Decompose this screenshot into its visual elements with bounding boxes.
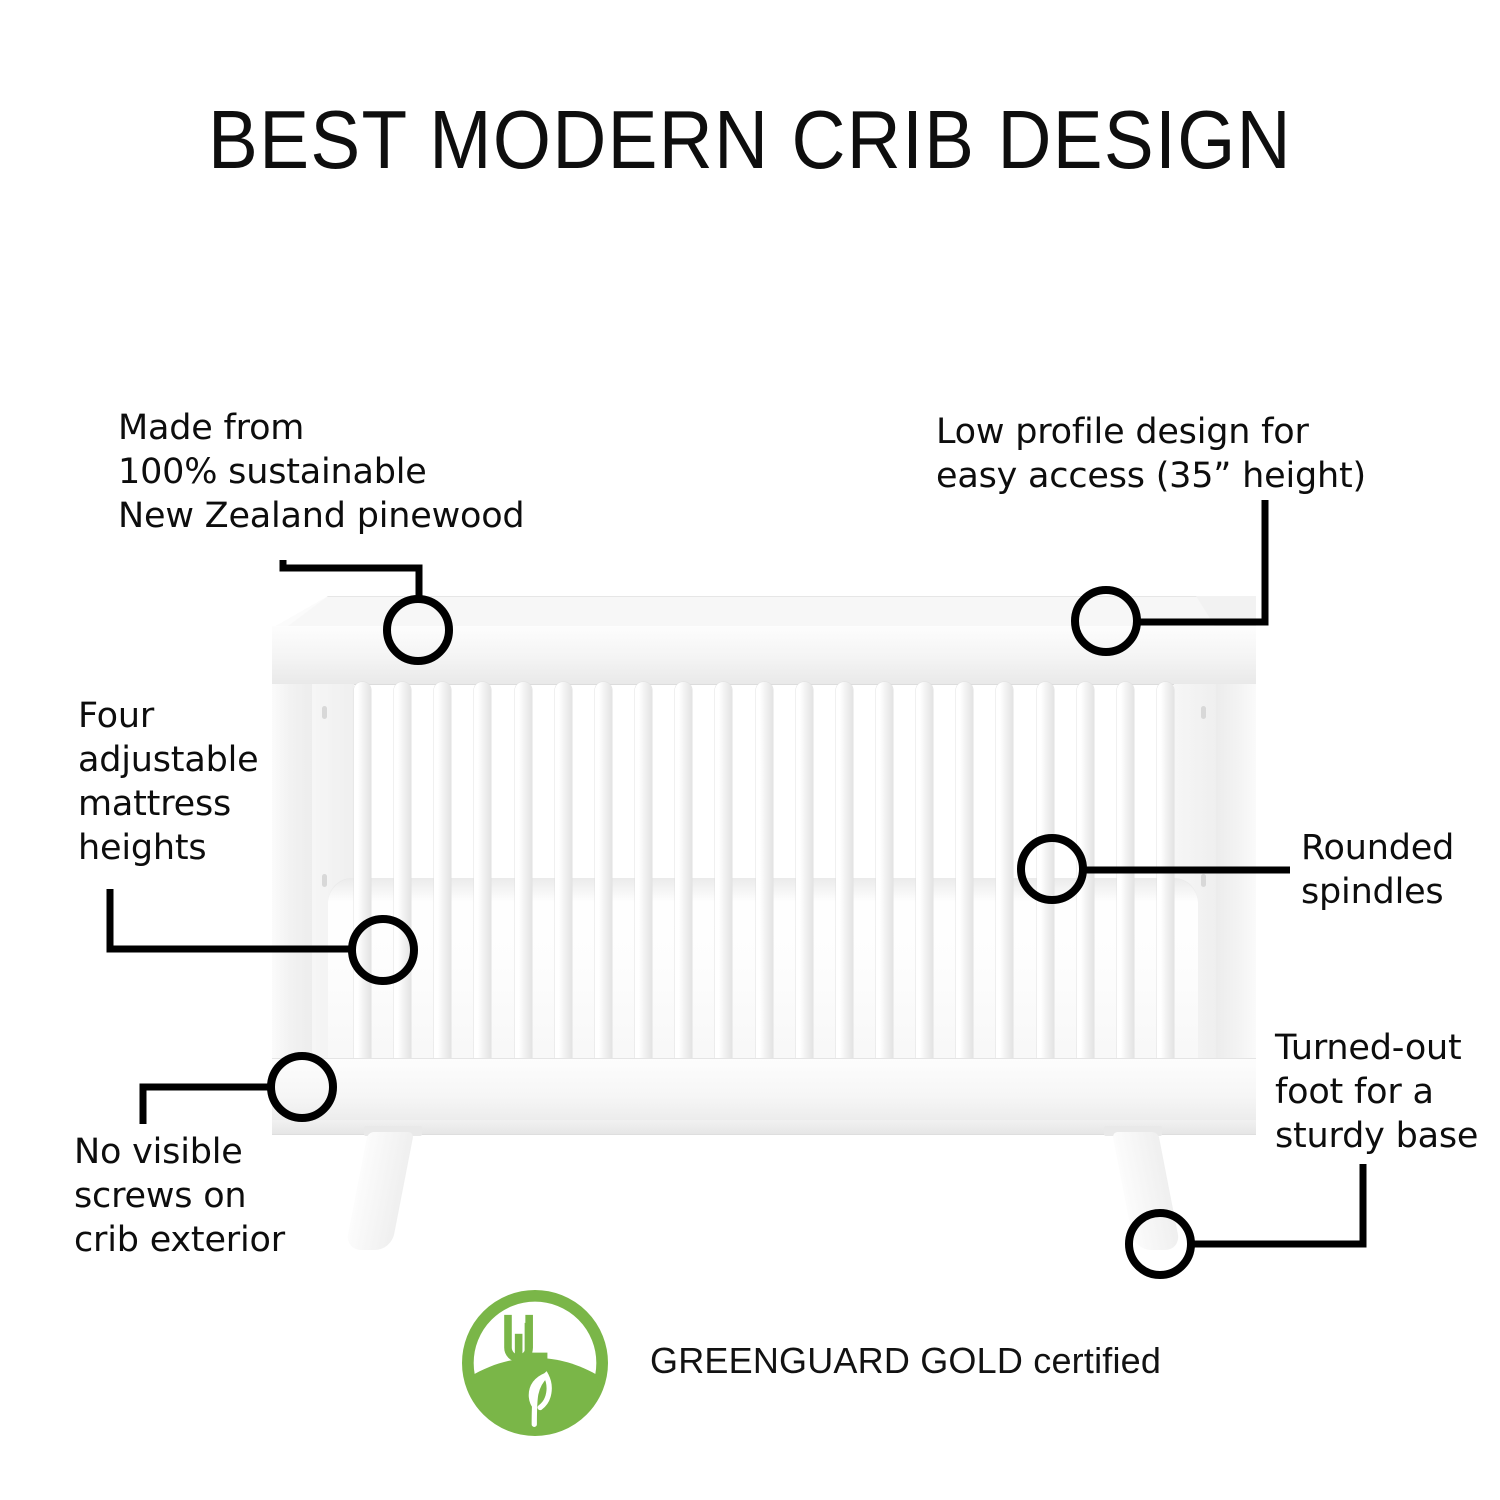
crib-spindle xyxy=(715,682,732,1072)
certification-badge: GREENGUARD GOLD certified xyxy=(462,1290,1161,1436)
crib-right-stile xyxy=(1216,684,1256,1066)
crib-spindle xyxy=(555,682,572,1072)
crib-top-rail-inner-face xyxy=(288,596,1240,627)
crib-illustration xyxy=(272,596,1256,1156)
crib-spindle xyxy=(1117,682,1134,1072)
crib-spindle xyxy=(595,682,612,1072)
crib-spindle xyxy=(474,682,491,1072)
callout-text-no-screws: No visible screws on crib exterior xyxy=(74,1130,285,1262)
mattress-peg-hole xyxy=(322,706,327,719)
crib-spindle xyxy=(956,682,973,1072)
leader-line-pinewood xyxy=(283,560,419,600)
callout-text-low-profile: Low profile design for easy access (35” … xyxy=(936,410,1366,498)
crib-spindle xyxy=(916,682,933,1072)
leader-line-no-screws xyxy=(143,1087,272,1124)
crib-spindle xyxy=(876,682,893,1072)
crib-spindle xyxy=(675,682,692,1072)
callout-text-pinewood: Made from 100% sustainable New Zealand p… xyxy=(118,406,524,538)
mattress-peg-hole xyxy=(322,874,327,887)
crib-spindle xyxy=(1157,682,1174,1072)
crib-spindle-group-front xyxy=(354,682,1174,1072)
crib-spindle xyxy=(1037,682,1054,1072)
crib-spindle xyxy=(756,682,773,1072)
certification-label: GREENGUARD GOLD certified xyxy=(650,1340,1161,1386)
crib-top-rail xyxy=(272,626,1256,685)
page-title: BEST MODERN CRIB DESIGN xyxy=(75,92,1425,188)
ul-greenguard-gold-icon xyxy=(462,1290,608,1436)
crib-spindle xyxy=(796,682,813,1072)
crib-bottom-rail xyxy=(272,1058,1256,1121)
crib-spindle xyxy=(394,682,411,1072)
crib-spindle xyxy=(434,682,451,1072)
crib-left-stile xyxy=(272,684,312,1066)
mattress-peg-hole xyxy=(1201,706,1206,719)
crib-left-foot xyxy=(345,1132,414,1250)
mattress-peg-hole xyxy=(1201,874,1206,887)
callout-text-rounded-spindles: Rounded spindles xyxy=(1301,826,1454,914)
crib-top-rail-surface xyxy=(272,596,1256,628)
infographic-canvas: BEST MODERN CRIB DESIGN xyxy=(0,0,1500,1500)
crib-spindle xyxy=(1077,682,1094,1072)
crib-spindle xyxy=(354,682,371,1072)
callout-text-mattress-heights: Four adjustable mattress heights xyxy=(78,694,258,870)
crib-spindle xyxy=(635,682,652,1072)
crib-spindle xyxy=(515,682,532,1072)
crib-right-foot xyxy=(1112,1132,1181,1250)
leader-line-turned-out-foot xyxy=(1191,1164,1363,1244)
callout-text-turned-out-foot: Turned-out foot for a sturdy base xyxy=(1275,1026,1478,1158)
crib-spindle xyxy=(836,682,853,1072)
crib-spindle xyxy=(996,682,1013,1072)
